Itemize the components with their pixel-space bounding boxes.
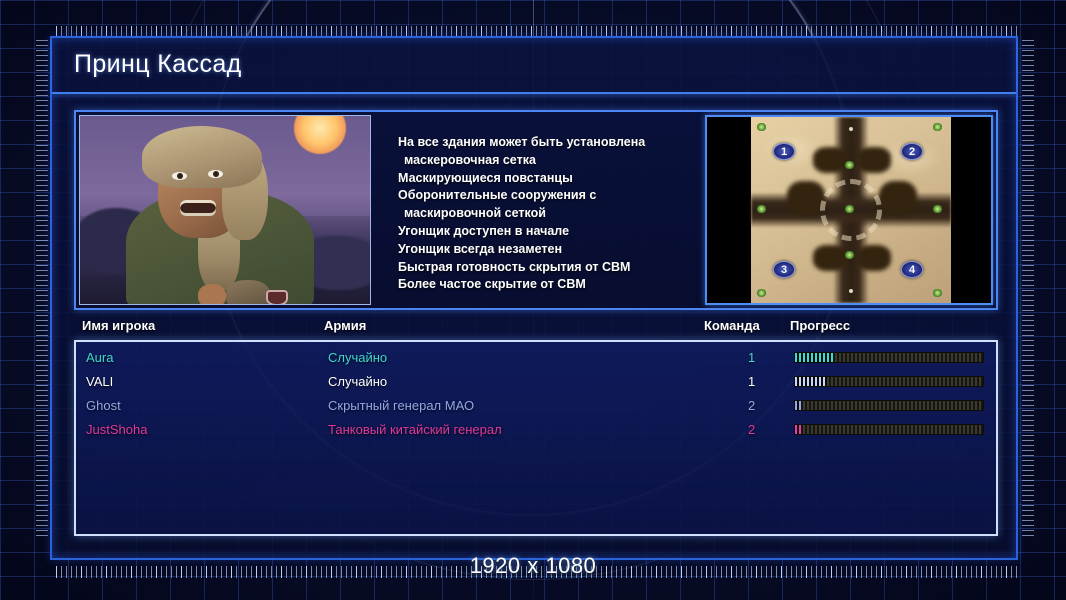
map-preview-image: 1234 bbox=[751, 117, 951, 303]
progress-bar-fill bbox=[795, 353, 833, 362]
ability-line: Оборонительные сооружения с bbox=[398, 187, 690, 205]
ruler-right bbox=[1022, 40, 1034, 540]
table-row[interactable]: JustShohaТанковый китайский генерал2 bbox=[76, 418, 996, 442]
map-start-position-3[interactable]: 3 bbox=[773, 261, 795, 278]
ability-line: На все здания может быть установлена bbox=[398, 134, 690, 152]
portrait-eye-left bbox=[172, 172, 187, 180]
map-terrain-blob bbox=[879, 181, 917, 215]
main-window: Принц Кассад На все здания может быть ус… bbox=[50, 36, 1018, 560]
map-tree-icon bbox=[933, 289, 942, 297]
map-marker-dot bbox=[849, 289, 853, 293]
title-bar: Принц Кассад bbox=[52, 38, 1016, 94]
progress-bar bbox=[794, 352, 984, 363]
player-name: VALI bbox=[86, 374, 113, 389]
portrait-teapot bbox=[226, 280, 270, 305]
portrait-cup bbox=[266, 290, 288, 305]
column-header-name: Имя игрока bbox=[82, 318, 155, 333]
player-army: Танковый китайский генерал bbox=[328, 422, 502, 437]
portrait-hand bbox=[198, 284, 226, 305]
resolution-label: 1920 x 1080 bbox=[0, 553, 1066, 579]
progress-bar bbox=[794, 424, 984, 435]
sun-icon bbox=[294, 115, 346, 154]
map-tree-icon bbox=[757, 123, 766, 131]
portrait-headwrap bbox=[142, 126, 262, 188]
map-preview: 1234 bbox=[705, 115, 993, 305]
map-tree-icon bbox=[933, 205, 942, 213]
map-terrain-blob bbox=[857, 245, 891, 271]
column-header-army: Армия bbox=[324, 318, 366, 333]
player-team: 1 bbox=[748, 350, 755, 365]
progress-bar-fill bbox=[795, 401, 801, 410]
page-title: Принц Кассад bbox=[74, 50, 242, 79]
player-team: 1 bbox=[748, 374, 755, 389]
table-row[interactable]: AuraСлучайно1 bbox=[76, 346, 996, 370]
player-army: Скрытный генерал МАО bbox=[328, 398, 474, 413]
map-tree-icon bbox=[933, 123, 942, 131]
player-name: Aura bbox=[86, 350, 113, 365]
general-abilities-list: На все здания может быть установленамаск… bbox=[398, 134, 690, 294]
player-army: Случайно bbox=[328, 350, 387, 365]
column-header-team: Команда bbox=[704, 318, 760, 333]
ability-line: Более частое скрытие от СВМ bbox=[398, 276, 690, 294]
ability-line: Быстрая готовность скрытия от СВМ bbox=[398, 259, 690, 277]
map-tree-icon bbox=[845, 205, 854, 213]
player-team: 2 bbox=[748, 422, 755, 437]
map-terrain-blob bbox=[813, 245, 847, 271]
ability-line: маскировочной сеткой bbox=[398, 205, 690, 223]
progress-bar-fill bbox=[795, 377, 827, 386]
column-header-progress: Прогресс bbox=[790, 318, 850, 333]
table-row[interactable]: GhostСкрытный генерал МАО2 bbox=[76, 394, 996, 418]
ability-line: Угонщик всегда незаметен bbox=[398, 241, 690, 259]
progress-bar-fill bbox=[795, 425, 801, 434]
portrait-mouth bbox=[180, 200, 216, 216]
player-army: Случайно bbox=[328, 374, 387, 389]
ability-line: Угонщик доступен в начале bbox=[398, 223, 690, 241]
map-marker-dot bbox=[849, 127, 853, 131]
map-tree-icon bbox=[757, 289, 766, 297]
general-info-panel: На все здания может быть установленамаск… bbox=[74, 110, 998, 310]
portrait-eye-right bbox=[208, 170, 223, 178]
map-tree-icon bbox=[757, 205, 766, 213]
progress-bar bbox=[794, 400, 984, 411]
ability-line: маскеровочная сетка bbox=[398, 152, 690, 170]
player-team: 2 bbox=[748, 398, 755, 413]
general-portrait bbox=[79, 115, 371, 305]
ruler-left bbox=[36, 40, 48, 540]
map-tree-icon bbox=[845, 161, 854, 169]
player-name: Ghost bbox=[86, 398, 121, 413]
map-terrain-blob bbox=[813, 147, 847, 173]
player-name: JustShoha bbox=[86, 422, 147, 437]
map-start-position-2[interactable]: 2 bbox=[901, 143, 923, 160]
ability-line: Маскирующиеся повстанцы bbox=[398, 170, 690, 188]
map-start-position-4[interactable]: 4 bbox=[901, 261, 923, 278]
player-list-panel: AuraСлучайно1VALIСлучайно1GhostСкрытный … bbox=[74, 340, 998, 536]
player-table-header: Имя игрока Армия Команда Прогресс bbox=[74, 318, 998, 340]
map-start-position-1[interactable]: 1 bbox=[773, 143, 795, 160]
map-terrain-blob bbox=[857, 147, 891, 173]
map-tree-icon bbox=[845, 251, 854, 259]
progress-bar bbox=[794, 376, 984, 387]
table-row[interactable]: VALIСлучайно1 bbox=[76, 370, 996, 394]
